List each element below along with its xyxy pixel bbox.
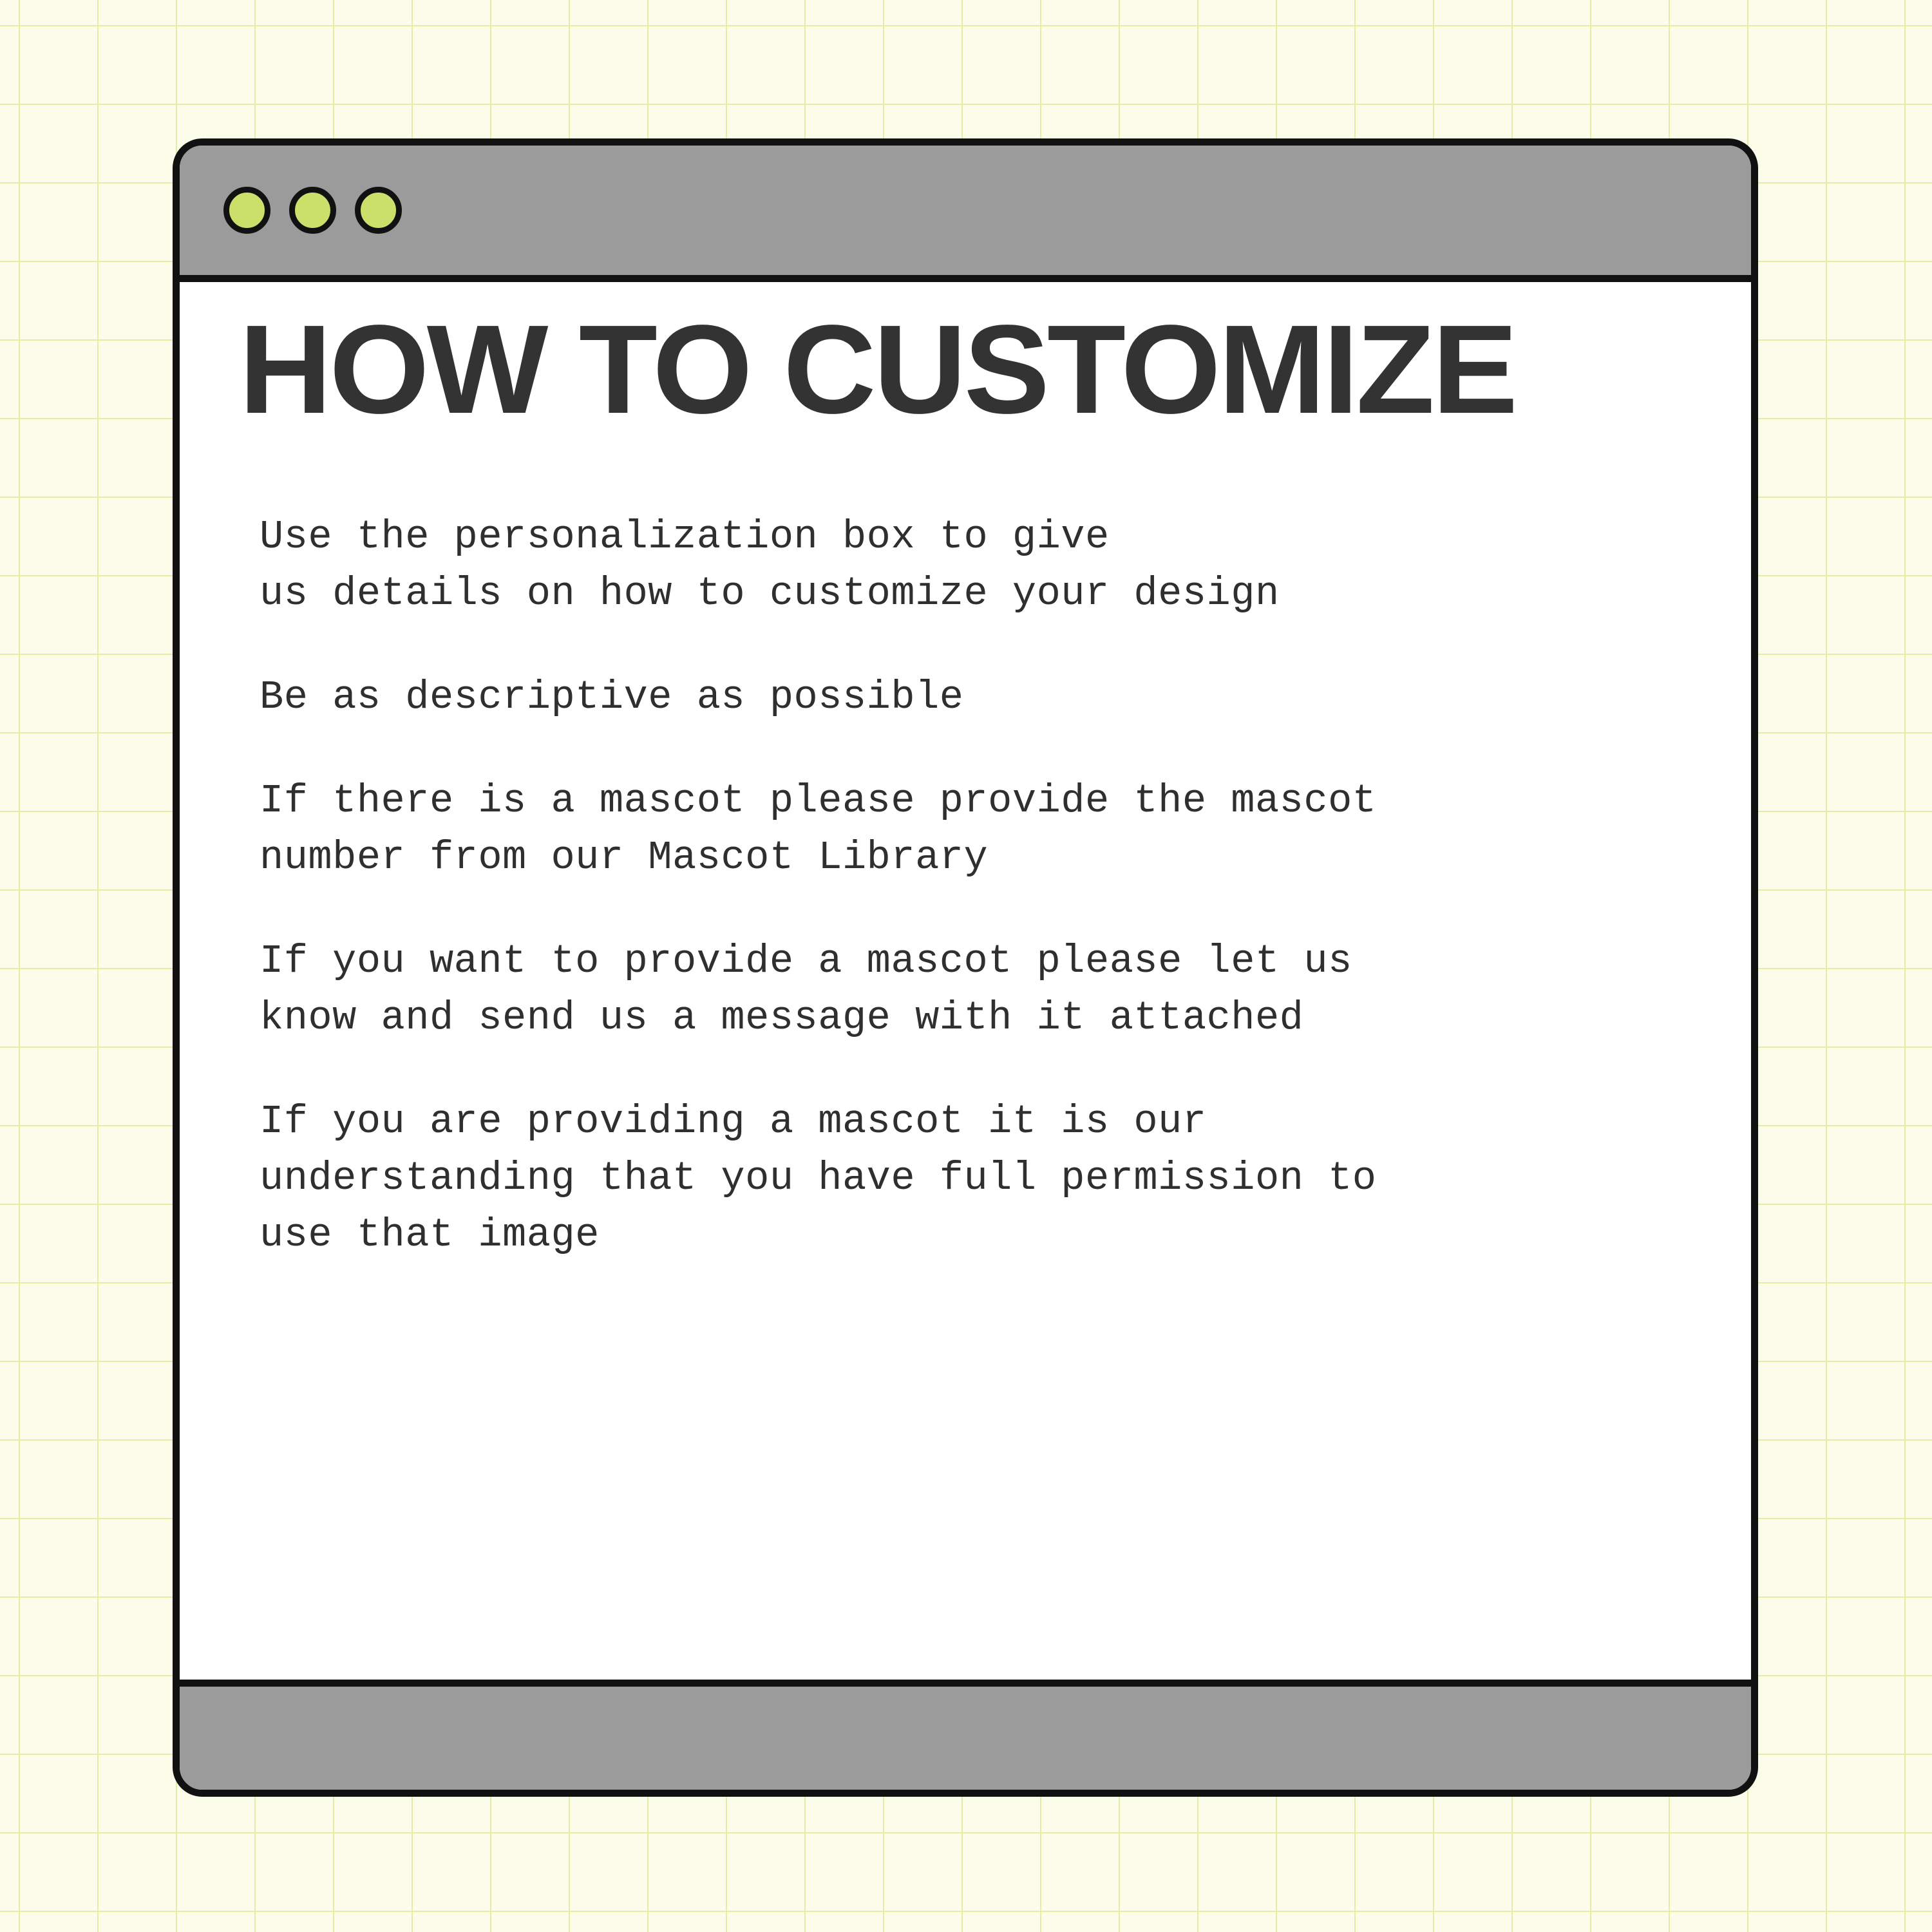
- instruction-item: Be as descriptive as possible: [260, 669, 1700, 726]
- window-dot-2-icon[interactable]: [289, 187, 336, 234]
- window-content: HOW TO CUSTOMIZE Use the personalization…: [180, 282, 1751, 1680]
- page-root: HOW TO CUSTOMIZE Use the personalization…: [0, 0, 1932, 1932]
- window-title-bar: [180, 146, 1751, 282]
- instructions-list: Use the personalization box to give us d…: [260, 509, 1700, 1264]
- window-dot-1-icon[interactable]: [223, 187, 270, 234]
- page-title: HOW TO CUSTOMIZE: [239, 307, 1728, 433]
- window-dot-3-icon[interactable]: [355, 187, 402, 234]
- app-window: HOW TO CUSTOMIZE Use the personalization…: [173, 138, 1758, 1797]
- instruction-item: If you want to provide a mascot please l…: [260, 933, 1700, 1046]
- instruction-item: Use the personalization box to give us d…: [260, 509, 1700, 622]
- window-footer-bar: [180, 1680, 1751, 1790]
- instruction-item: If you are providing a mascot it is our …: [260, 1094, 1700, 1264]
- instruction-item: If there is a mascot please provide the …: [260, 773, 1700, 886]
